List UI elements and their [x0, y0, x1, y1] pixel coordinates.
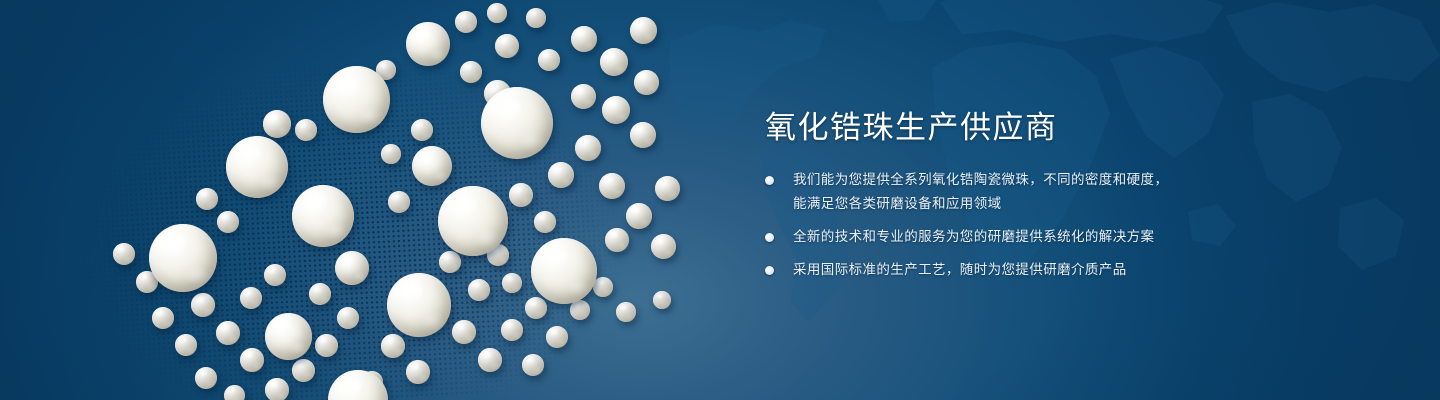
list-item-line-1: 采用国际标准的生产工艺，随时为您提供研磨介质产品 [793, 258, 1235, 282]
banner-content: 氧化锆珠生产供应商 我们能为您提供全系列氧化锆陶瓷微珠，不同的密度和硬度， 能满… [765, 0, 1405, 400]
list-item: 全新的技术和专业的服务为您的研磨提供系统化的解决方案 [765, 225, 1235, 249]
bullet-dot-icon [765, 233, 774, 242]
hero-banner: 氧化锆珠生产供应商 我们能为您提供全系列氧化锆陶瓷微珠，不同的密度和硬度， 能满… [0, 0, 1440, 400]
list-item-line-1: 全新的技术和专业的服务为您的研磨提供系统化的解决方案 [793, 225, 1235, 249]
list-item: 我们能为您提供全系列氧化锆陶瓷微珠，不同的密度和硬度， 能满足您各类研磨设备和应… [765, 168, 1235, 216]
list-item: 采用国际标准的生产工艺，随时为您提供研磨介质产品 [765, 258, 1235, 282]
list-item-line-1: 我们能为您提供全系列氧化锆陶瓷微珠，不同的密度和硬度， [793, 168, 1235, 192]
page-title: 氧化锆珠生产供应商 [765, 108, 1058, 148]
bullet-dot-icon [765, 266, 774, 275]
list-item-line-2: 能满足您各类研磨设备和应用领域 [793, 192, 1235, 216]
bullet-dot-icon [765, 176, 774, 185]
feature-list: 我们能为您提供全系列氧化锆陶瓷微珠，不同的密度和硬度， 能满足您各类研磨设备和应… [765, 168, 1235, 282]
